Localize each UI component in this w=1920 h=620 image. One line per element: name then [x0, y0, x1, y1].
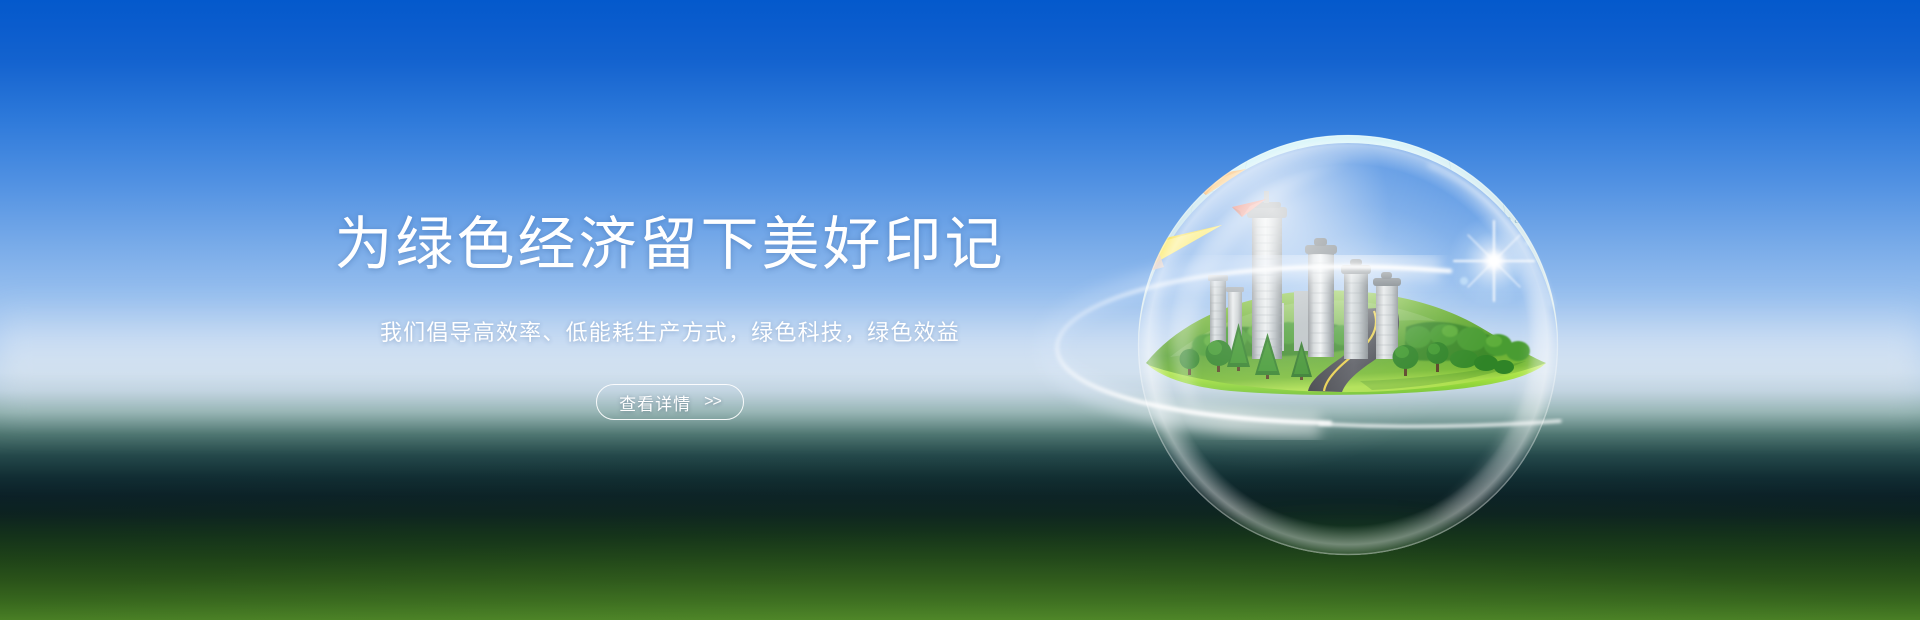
cta-container: 查看详情 >>: [0, 347, 1340, 420]
page-title: 为绿色经济留下美好印记: [0, 215, 1340, 275]
background-field-glow: [0, 410, 1920, 620]
hero-text-block: 为绿色经济留下美好印记 我们倡导高效率、低能耗生产方式，绿色科技，绿色效益 查看…: [0, 215, 1340, 420]
view-details-button[interactable]: 查看详情 >>: [596, 384, 744, 420]
hero-banner: INDONESIA PAPUA NEW GUINEA SOLOMON ISLAN…: [0, 0, 1920, 620]
globe-inner-shadow: [1148, 509, 1548, 595]
page-subtitle: 我们倡导高效率、低能耗生产方式，绿色科技，绿色效益: [0, 275, 1340, 347]
double-chevron-right-icon: >>: [704, 393, 721, 411]
view-details-label: 查看详情: [619, 390, 691, 415]
